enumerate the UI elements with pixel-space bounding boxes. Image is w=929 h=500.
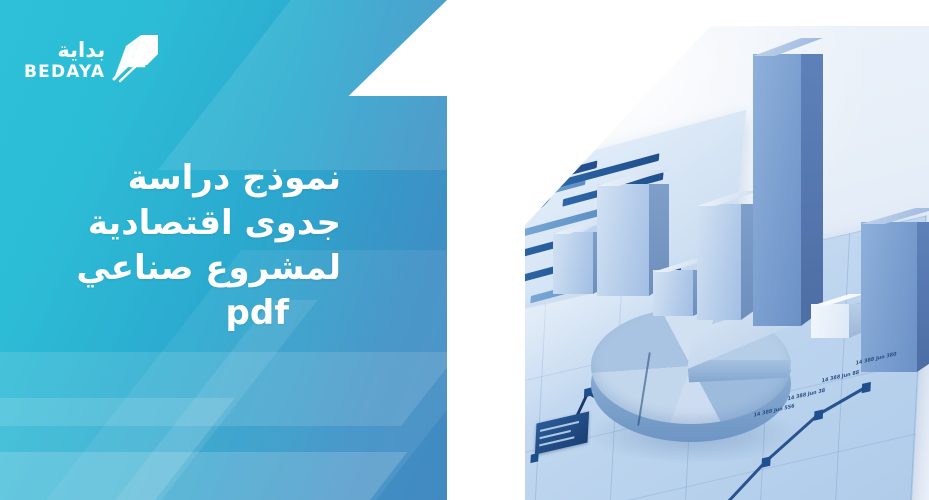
title-line-1: نموذج دراسة <box>51 156 341 201</box>
photo-frame: 14 388 Jun 556 14 388 Jun 38 14 388 Jun … <box>447 0 929 500</box>
decor-stripe-lowerleft <box>0 398 235 500</box>
decor-stripe-bottom <box>0 452 407 500</box>
bar-6 <box>811 304 849 338</box>
bedaya-arrow-mark-icon <box>111 32 163 84</box>
bar-4 <box>697 204 741 320</box>
bar-3 <box>653 270 693 316</box>
logo-arabic-text: بداية <box>57 40 105 61</box>
logo-wordmark: بداية BEDAYA <box>24 36 105 81</box>
title-line-4: pdf <box>51 291 341 336</box>
banner-root: بداية BEDAYA نموذج دراسة جدوى اقتصادية ل… <box>0 0 929 500</box>
decor-stripe-lower <box>0 352 447 426</box>
panel-corner-cut <box>327 0 447 96</box>
title-line-3: لمشروع صناعي <box>51 246 341 291</box>
bar-2 <box>597 184 649 296</box>
bar-1 <box>553 232 593 294</box>
title-line-2: جدوى اقتصادية <box>51 201 341 246</box>
logo-latin-text: BEDAYA <box>24 64 105 81</box>
business-charts-photo: 14 388 Jun 556 14 388 Jun 38 14 388 Jun … <box>525 26 929 500</box>
bar-7 <box>861 222 917 372</box>
page-title: نموذج دراسة جدوى اقتصادية لمشروع صناعي p… <box>51 156 341 336</box>
bedaya-logo[interactable]: بداية BEDAYA <box>24 30 159 86</box>
bar-5-tallest <box>753 54 801 326</box>
left-teal-panel: بداية BEDAYA نموذج دراسة جدوى اقتصادية ل… <box>0 0 447 500</box>
